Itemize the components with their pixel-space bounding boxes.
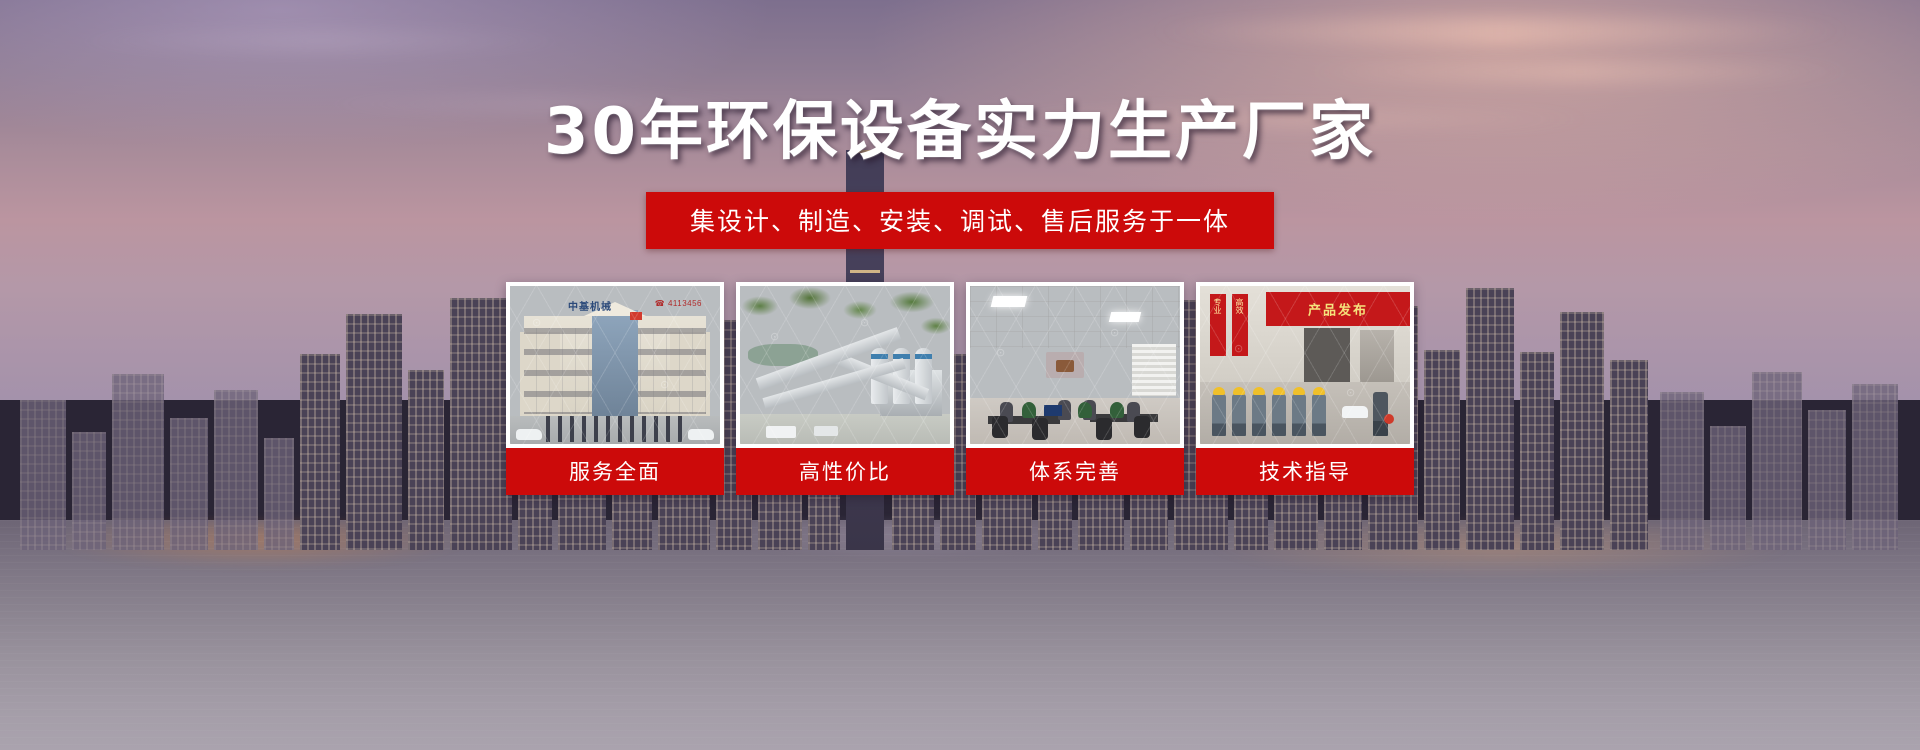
card-photo-aerial-plant: ⊙ ⊙ — [740, 286, 950, 444]
card-photo-company-building: 中基机械 ☎ 4113456 ⊙ ⊙ — [510, 286, 720, 444]
page-title: 30年环保设备实力生产厂家 — [0, 100, 1920, 164]
feature-card[interactable]: 中基机械 ☎ 4113456 ⊙ ⊙ 服务全面 — [506, 282, 724, 495]
card-caption: 服务全面 — [506, 448, 724, 495]
vertical-banner-text: 专业 — [1212, 298, 1222, 314]
factory-banner-text: 产品发布 — [1308, 300, 1368, 319]
card-photo-office-interior: ⊙ ⊙ — [970, 286, 1180, 444]
card-photo-factory-workers: 产品发布 专业 高效 — [1200, 286, 1410, 444]
hero-content: 30年环保设备实力生产厂家 集设计、制造、安装、调试、售后服务于一体 中基机械 … — [0, 0, 1920, 750]
feature-card[interactable]: ⊙ ⊙ 体系完善 — [966, 282, 1184, 495]
building-phone-text: ☎ 4113456 — [655, 299, 702, 308]
card-caption: 体系完善 — [966, 448, 1184, 495]
feature-card[interactable]: ⊙ ⊙ 高性价比 — [736, 282, 954, 495]
vertical-banner: 专业 — [1210, 294, 1226, 356]
hero-banner: 30年环保设备实力生产厂家 集设计、制造、安装、调试、售后服务于一体 中基机械 … — [0, 0, 1920, 750]
feature-card[interactable]: 产品发布 专业 高效 — [1196, 282, 1414, 495]
feature-card-list: 中基机械 ☎ 4113456 ⊙ ⊙ 服务全面 — [506, 282, 1414, 495]
vertical-banner-text: 高效 — [1234, 298, 1244, 314]
card-caption: 技术指导 — [1196, 448, 1414, 495]
card-caption: 高性价比 — [736, 448, 954, 495]
building-sign-text: 中基机械 — [568, 298, 612, 313]
factory-banner: 产品发布 — [1266, 292, 1410, 326]
vertical-banner: 高效 — [1232, 294, 1248, 356]
subtitle-banner: 集设计、制造、安装、调试、售后服务于一体 — [646, 192, 1274, 249]
